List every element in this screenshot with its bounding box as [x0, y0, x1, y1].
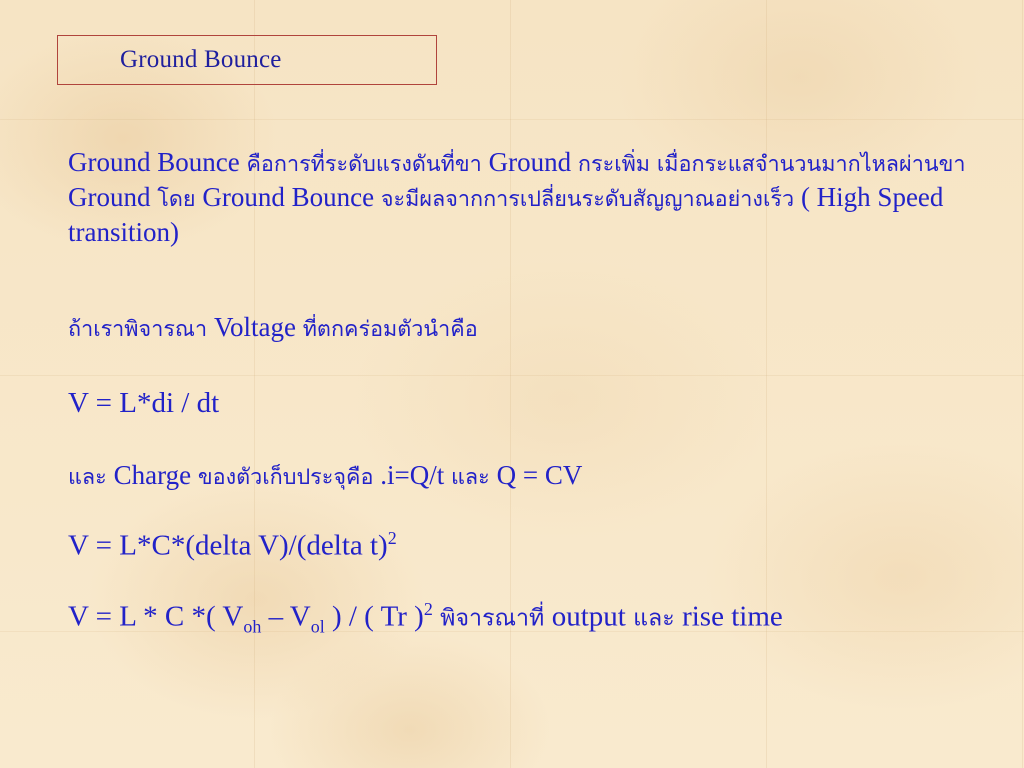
paragraph-voltage-intro: ถ้าเราพิจารณา Voltage ที่ตกคร่อมตัวนำคือ — [68, 310, 968, 345]
eq3-en2: rise time — [682, 601, 783, 633]
equation-voltage-inductor: V = L*di / dt — [68, 385, 968, 423]
para3-seg1: และ — [68, 465, 114, 490]
para2-seg1: ถ้าเราพิจารณา — [68, 317, 214, 342]
para3-seg3: ของตัวเก็บประจุคือ — [198, 465, 380, 490]
eq3-part1: V = L * C *( V — [68, 601, 243, 633]
paragraph-definition: Ground Bounce คือการที่ระดับแรงดันที่ขา … — [68, 145, 968, 250]
eq3-th1: พิจารณาที่ — [433, 605, 552, 632]
eq3-th2: และ — [633, 605, 682, 632]
eq3-part2: – V — [261, 601, 310, 633]
eq3-exponent: 2 — [424, 599, 433, 619]
eq2-exponent: 2 — [388, 528, 397, 548]
page-title: Ground Bounce — [58, 46, 282, 74]
eq3-part3: ) / ( Tr ) — [325, 601, 424, 633]
para1-seg6: โดย — [157, 187, 202, 212]
para1-seg2: คือการที่ระดับแรงดันที่ขา — [246, 152, 488, 177]
para1-seg5: Ground — [68, 182, 157, 212]
para3-seg2: Charge — [114, 460, 198, 490]
para1-seg1: Ground Bounce — [68, 147, 246, 177]
eq2-main: V = L*C*(delta V)/(delta t) — [68, 530, 388, 562]
para3-seg4: .i=Q/t — [380, 460, 451, 490]
equation-voh-vol-form: V = L * C *( Voh – Vol ) / ( Tr )2 พิจาร… — [68, 598, 968, 639]
equation-delta-form: V = L*C*(delta V)/(delta t)2 — [68, 527, 968, 565]
para1-seg7: Ground Bounce — [202, 182, 380, 212]
para1-seg4: กระเพิ่ม เมื่อกระแสจำนวนมากไหลผ่านขา — [578, 152, 966, 177]
para3-seg5: และ — [451, 465, 497, 490]
para3-seg6: Q = CV — [497, 460, 583, 490]
title-box: Ground Bounce — [57, 35, 437, 85]
slide-background — [0, 0, 1024, 768]
para1-seg8: จะมีผลจากการเปลี่ยนระดับสัญญาณอย่างเร็ว — [381, 187, 801, 212]
para2-seg3: ที่ตกคร่อมตัวนำคือ — [303, 317, 478, 342]
eq3-sub-ol: ol — [311, 616, 325, 636]
para2-seg2: Voltage — [214, 312, 303, 342]
paragraph-charge: และ Charge ของตัวเก็บประจุคือ .i=Q/t และ… — [68, 458, 968, 493]
para1-seg3: Ground — [489, 147, 578, 177]
eq3-en1: output — [552, 601, 633, 633]
eq3-sub-oh: oh — [243, 616, 261, 636]
